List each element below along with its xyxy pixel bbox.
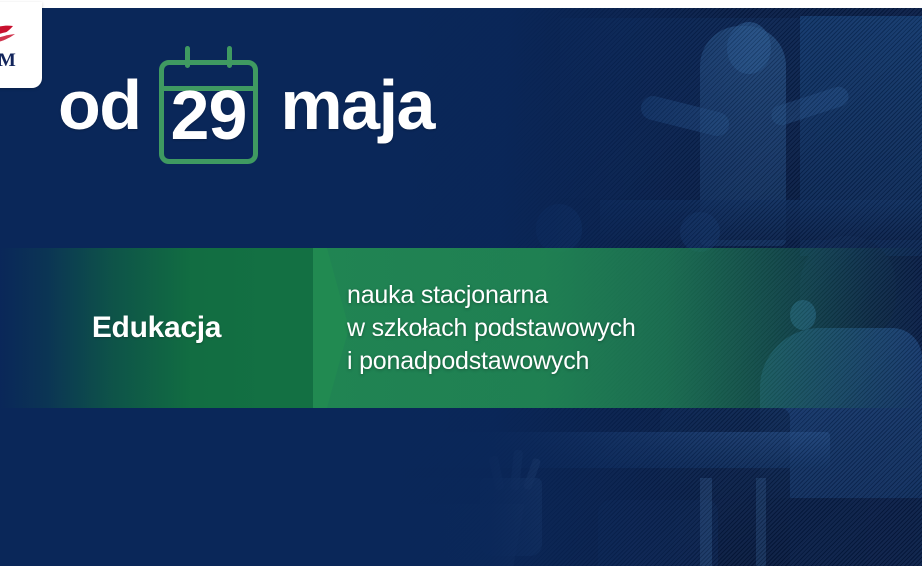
category-label: Edukacja	[0, 248, 313, 408]
description-line-1: nauka stacjonarna	[347, 279, 636, 312]
headline-prefix: od	[58, 70, 141, 140]
category-description: nauka stacjonarna w szkołach podstawowyc…	[347, 248, 636, 408]
headline-month: maja	[280, 70, 434, 140]
kprm-logo-text: RM	[0, 50, 16, 72]
top-white-strip	[0, 0, 922, 8]
kprm-logo: RM	[0, 2, 42, 88]
polish-eagle-emblem	[0, 22, 21, 48]
description-line-3: i ponadpodstawowych	[347, 345, 636, 378]
bottom-white-strip	[0, 566, 922, 576]
education-announcement-banner: Edukacja nauka stacjonarna w szkołach po…	[0, 0, 922, 576]
headline-day-number: 29	[171, 80, 247, 164]
category-band: Edukacja nauka stacjonarna w szkołach po…	[0, 248, 922, 408]
calendar-ring-left	[185, 46, 190, 68]
calendar-ring-right	[227, 46, 232, 68]
calendar-icon: 29	[159, 46, 259, 164]
headline: od 29 maja	[58, 62, 434, 148]
description-line-2: w szkołach podstawowych	[347, 312, 636, 345]
